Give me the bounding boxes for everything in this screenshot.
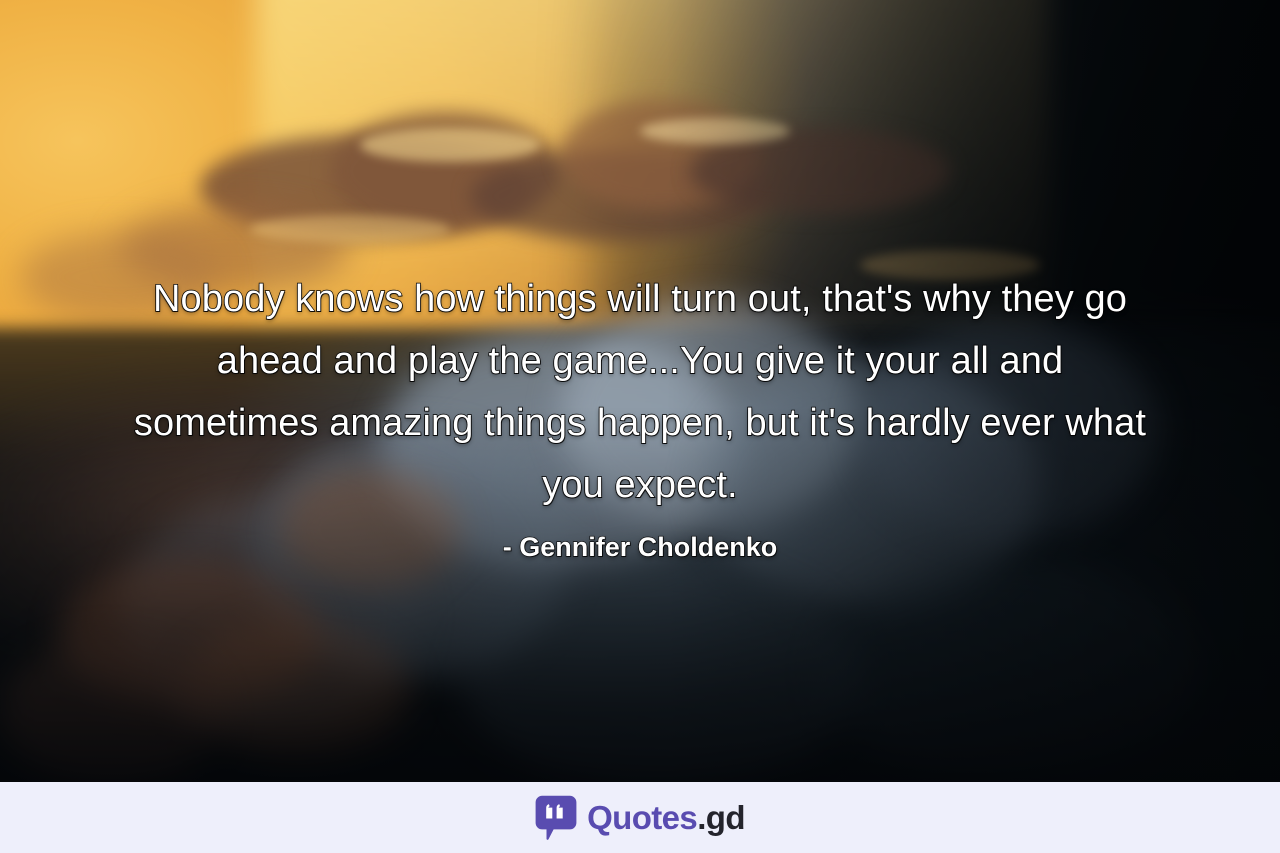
quote-bubble-icon — [535, 795, 577, 841]
brand-wordmark: Quotes.gd — [587, 801, 745, 834]
quote-author: - Gennifer Choldenko — [120, 530, 1160, 564]
quote-block: Nobody knows how things will turn out, t… — [0, 268, 1280, 564]
brand-tld: .gd — [697, 801, 745, 834]
quote-card: Nobody knows how things will turn out, t… — [0, 0, 1280, 853]
quote-text: Nobody knows how things will turn out, t… — [120, 268, 1160, 516]
brand-logo[interactable]: Quotes.gd — [535, 795, 745, 841]
footer-bar: Quotes.gd — [0, 782, 1280, 853]
brand-name: Quotes — [587, 801, 697, 834]
